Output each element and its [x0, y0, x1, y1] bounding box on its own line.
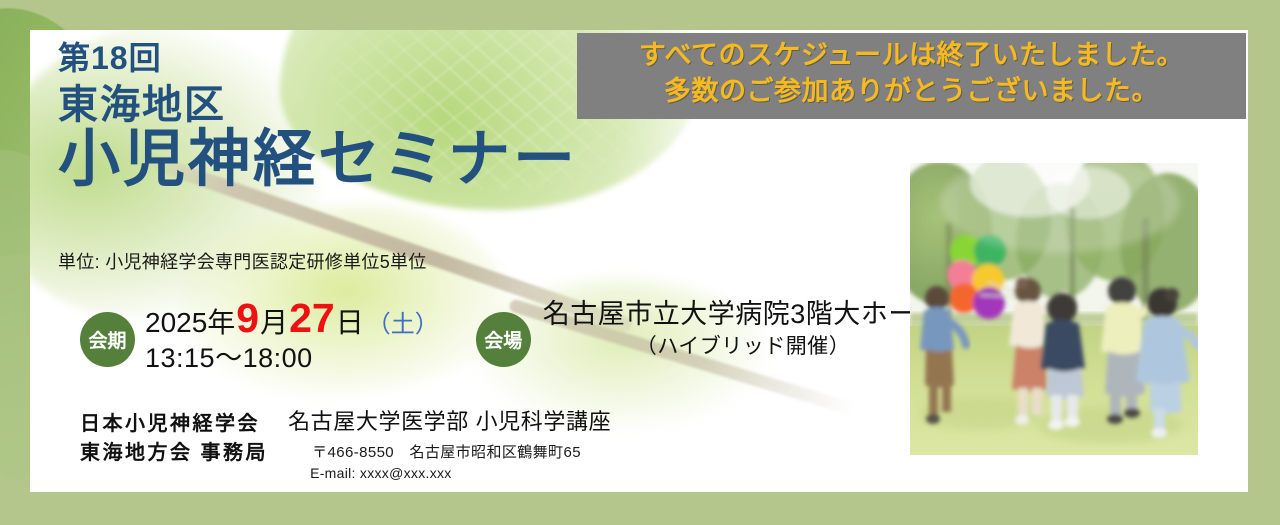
page-title: 第18回 東海地区 小児神経セミナー: [58, 42, 578, 193]
postal-address: 〒466-8550 名古屋市昭和区鶴舞町65: [312, 441, 611, 462]
society-name: 日本小児神経学会 東海地方会 事務局: [80, 408, 268, 468]
photo-illustration: [910, 163, 1198, 455]
venue-text: 名古屋市立大学病院3階大ホール （ハイブリッド開催）: [543, 298, 944, 361]
title-edition: 第18回: [58, 42, 578, 74]
date-details: 2025年 9 月 27 日 （土） 13:15〜18:00: [145, 298, 439, 375]
date-day-number: 27: [288, 298, 336, 339]
title-region: 東海地区: [58, 84, 578, 127]
children-balloons-photo: [910, 163, 1198, 455]
venue-badge-row: 会場 名古屋市立大学病院3階大ホール （ハイブリッド開催）: [476, 298, 944, 367]
venue-name: 名古屋市立大学病院3階大ホール: [543, 298, 944, 330]
schedule-ended-notice: すべてのスケジュールは終了いたしました。 多数のご参加ありがとうございました。: [577, 33, 1246, 119]
date-badge: 会期: [80, 312, 135, 367]
date-line: 2025年 9 月 27 日 （土）: [145, 298, 439, 340]
society-name-line-2: 東海地方会 事務局: [80, 439, 268, 468]
date-month-unit: 月: [260, 306, 288, 340]
notice-line-2: 多数のご参加ありがとうございました。: [577, 74, 1246, 110]
credit-units-text: 単位: 小児神経学会専門医認定研修単位5単位: [58, 248, 427, 274]
secretariat-details: 名古屋大学医学部 小児科学講座 〒466-8550 名古屋市昭和区鶴舞町65 E…: [288, 408, 611, 481]
society-name-line-1: 日本小児神経学会: [80, 410, 268, 439]
date-day-unit: 日: [336, 306, 364, 340]
event-info-row: 会期 2025年 9 月 27 日 （土） 13:15〜18:00 会場: [80, 298, 943, 375]
title-main: 小児神経セミナー: [58, 127, 578, 193]
venue-badge: 会場: [476, 312, 531, 367]
date-year: 2025年: [145, 306, 235, 340]
banner-card: すべてのスケジュールは終了いたしました。 多数のご参加ありがとうございました。 …: [30, 30, 1248, 492]
organizer-footer: 日本小児神経学会 東海地方会 事務局 名古屋大学医学部 小児科学講座 〒466-…: [80, 408, 611, 481]
venue-format: （ハイブリッド開催）: [543, 334, 944, 360]
seminar-banner: すべてのスケジュールは終了いたしました。 多数のご参加ありがとうございました。 …: [0, 0, 1280, 525]
email-address[interactable]: E-mail: xxxx@xxx.xxx: [310, 465, 611, 481]
date-weekday: （土）: [367, 310, 439, 339]
date-month-number: 9: [235, 298, 260, 339]
department-name: 名古屋大学医学部 小児科学講座: [288, 408, 611, 436]
venue-details: 会場 名古屋市立大学病院3階大ホール （ハイブリッド開催）: [476, 298, 944, 367]
event-time: 13:15〜18:00: [145, 342, 439, 375]
notice-line-1: すべてのスケジュールは終了いたしました。: [577, 38, 1246, 74]
